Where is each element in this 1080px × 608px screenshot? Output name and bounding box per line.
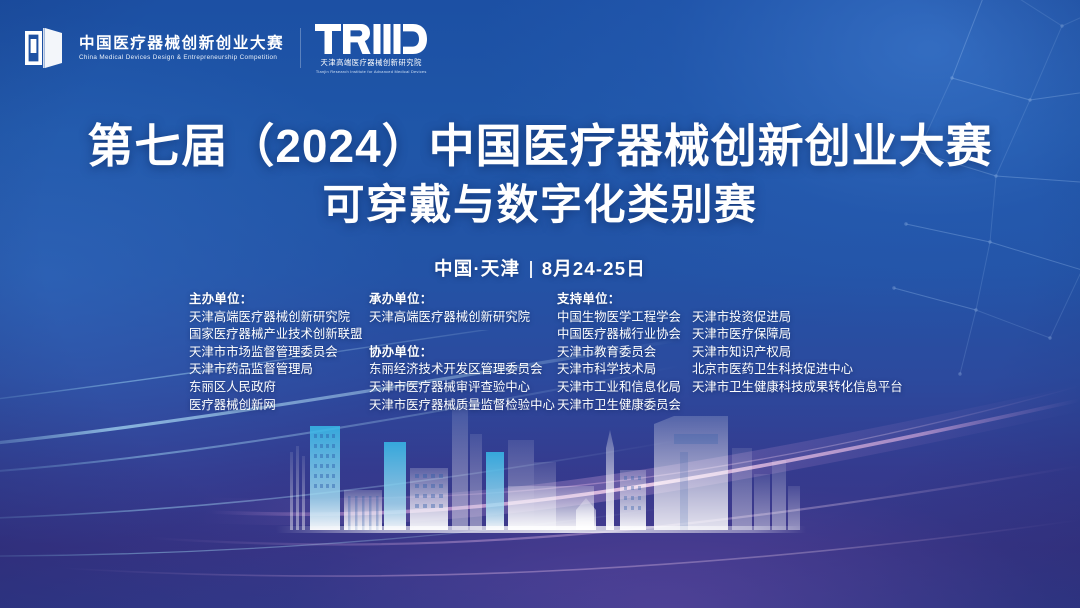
host-item: 东丽区人民政府 bbox=[189, 379, 369, 397]
host-item: 国家医疗器械产业技术创新联盟 bbox=[189, 326, 369, 344]
supporter-title: 支持单位： bbox=[557, 291, 692, 309]
supporter-item: 天津市工业和信息化局 bbox=[557, 379, 692, 397]
supporter-item: 天津市科学技术局 bbox=[557, 361, 692, 379]
supporter-item: 天津市知识产权局 bbox=[692, 344, 902, 362]
column-supporter-2: 天津市投资促进局 天津市医疗保障局 天津市知识产权局 北京市医药卫生科技促进中心… bbox=[692, 291, 902, 397]
supporter-item: 中国医疗器械行业协会 bbox=[557, 326, 692, 344]
subtitle-dates: 8月24-25日 bbox=[542, 258, 646, 279]
supporter-item: 中国生物医学工程学会 bbox=[557, 309, 692, 327]
column-host: 主办单位： 天津高端医疗器械创新研究院 国家医疗器械产业技术创新联盟 天津市市场… bbox=[189, 291, 369, 414]
trimd-logo-en: Tianjin Research Institute for Advanced … bbox=[316, 70, 427, 74]
host-item: 天津高端医疗器械创新研究院 bbox=[189, 309, 369, 327]
supporter-item: 天津市投资促进局 bbox=[692, 309, 902, 327]
co-organizer-item: 东丽经济技术开发区管理委员会 bbox=[369, 361, 557, 379]
trimd-wordmark-icon bbox=[315, 22, 427, 56]
logo-cmdc: 中国医疗器械创新创业大赛 China Medical Devices Desig… bbox=[22, 25, 300, 71]
cmdc-logo-en: China Medical Devices Design & Entrepren… bbox=[79, 55, 288, 61]
open-door-mark-icon bbox=[22, 25, 68, 71]
logo-trimd: 天津高端医疗器械创新研究院 Tianjin Research Institute… bbox=[315, 22, 427, 75]
poster-title: 第七届（2024）中国医疗器械创新创业大赛 可穿戴与数字化类别赛 bbox=[0, 118, 1080, 233]
title-line-2: 可穿戴与数字化类别赛 bbox=[0, 178, 1080, 233]
poster-canvas: 中国医疗器械创新创业大赛 China Medical Devices Desig… bbox=[0, 0, 1080, 608]
subtitle-divider bbox=[530, 261, 532, 278]
host-title: 主办单位： bbox=[189, 291, 369, 309]
supporter-item: 天津市医疗保障局 bbox=[692, 326, 902, 344]
subtitle-location: 中国·天津 bbox=[434, 258, 520, 279]
cmdc-logo-cn: 中国医疗器械创新创业大赛 bbox=[79, 36, 284, 52]
supporter-item: 北京市医药卫生科技促进中心 bbox=[692, 361, 902, 379]
header-logo-bar: 中国医疗器械创新创业大赛 China Medical Devices Desig… bbox=[22, 22, 427, 75]
column-undertaker: 承办单位： 天津高端医疗器械创新研究院 协办单位： 东丽经济技术开发区管理委员会… bbox=[369, 291, 557, 414]
title-line-1: 第七届（2024）中国医疗器械创新创业大赛 bbox=[0, 118, 1080, 176]
group-spacer bbox=[369, 326, 557, 344]
trimd-logo-cn: 天津高端医疗器械创新研究院 bbox=[321, 59, 422, 67]
undertaker-title: 承办单位： bbox=[369, 291, 557, 309]
co-organizer-item: 天津市医疗器械质量监督检验中心 bbox=[369, 397, 557, 415]
undertaker-item: 天津高端医疗器械创新研究院 bbox=[369, 309, 557, 327]
supporter-item: 天津市卫生健康委员会 bbox=[557, 397, 692, 415]
host-item: 天津市药品监督管理局 bbox=[189, 361, 369, 379]
co-organizer-item: 天津市医疗器械审评查验中心 bbox=[369, 379, 557, 397]
organizations-block: 主办单位： 天津高端医疗器械创新研究院 国家医疗器械产业技术创新联盟 天津市市场… bbox=[189, 291, 902, 414]
subtitle-location-date: 中国·天津8月24-25日 bbox=[0, 255, 1080, 281]
host-item: 天津市市场监督管理委员会 bbox=[189, 344, 369, 362]
co-organizer-title: 协办单位： bbox=[369, 344, 557, 362]
host-item: 医疗器械创新网 bbox=[189, 397, 369, 415]
logo-divider bbox=[300, 28, 301, 68]
column-supporter-1: 支持单位： 中国生物医学工程学会 中国医疗器械行业协会 天津市教育委员会 天津市… bbox=[557, 291, 692, 414]
supporter-item: 天津市教育委员会 bbox=[557, 344, 692, 362]
supporter-item: 天津市卫生健康科技成果转化信息平台 bbox=[692, 379, 902, 397]
